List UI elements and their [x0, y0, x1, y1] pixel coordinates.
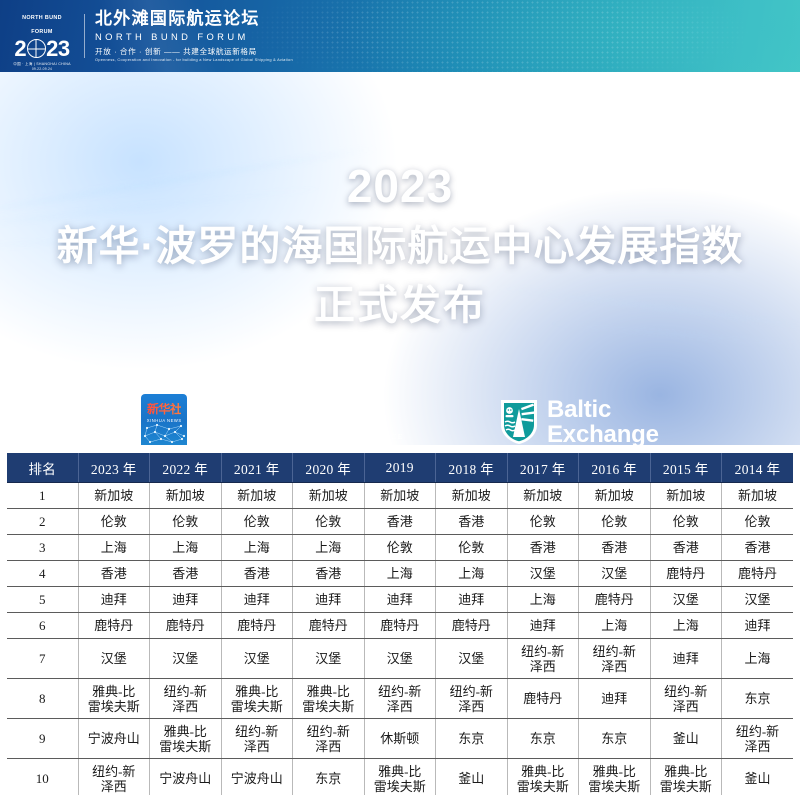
port-name: 上海: [509, 592, 578, 607]
column-header-year-2014: 2014 年: [722, 453, 794, 483]
port-cell: 汉堡: [722, 587, 794, 613]
port-cell: 伦敦: [436, 535, 508, 561]
north-bund-forum-logo-icon: NORTH BUND FORUM 2 23 中国 · 上海 | SHANGHAI…: [10, 7, 74, 65]
port-cell: 釜山: [436, 759, 508, 795]
rank-cell: 9: [7, 719, 78, 759]
port-name: 伦敦: [294, 514, 363, 529]
port-name: 上海: [223, 540, 292, 555]
port-name: 纽约-新 泽西: [437, 684, 506, 714]
port-name: 纽约-新 泽西: [294, 724, 363, 754]
port-cell: 雅典-比 雷埃夫斯: [650, 759, 722, 795]
port-cell: 纽约-新 泽西: [722, 719, 794, 759]
port-cell: 鹿特丹: [436, 613, 508, 639]
lockup-divider: [84, 14, 85, 58]
port-name: 香港: [723, 540, 792, 555]
port-cell: 纽约-新 泽西: [150, 679, 222, 719]
baltic-name-block: Baltic Exchange: [547, 397, 659, 445]
port-name: 纽约-新 泽西: [652, 684, 721, 714]
table-body: 1新加坡新加坡新加坡新加坡新加坡新加坡新加坡新加坡新加坡新加坡2伦敦伦敦伦敦伦敦…: [7, 483, 793, 795]
port-name: 东京: [509, 731, 578, 746]
port-name: 迪拜: [223, 592, 292, 607]
port-cell: 纽约-新 泽西: [579, 639, 651, 679]
north-bund-forum-lockup: NORTH BUND FORUM 2 23 中国 · 上海 | SHANGHAI…: [10, 6, 293, 66]
port-name: 新加坡: [294, 488, 363, 503]
port-name: 纽约-新 泽西: [723, 724, 792, 754]
port-cell: 东京: [579, 719, 651, 759]
port-name: 伦敦: [509, 514, 578, 529]
forum-slogan-cn: 开放 · 合作 · 创新 —— 共建全球航运新格局: [95, 46, 293, 57]
sponsor-logos: 新华社 XINHUA NEWS: [0, 394, 800, 445]
ranking-table-section: 排名2023 年2022 年2021 年2020 年20192018 年2017…: [0, 445, 800, 795]
port-name: 香港: [437, 514, 506, 529]
port-cell: 上海: [150, 535, 222, 561]
port-cell: 雅典-比 雷埃夫斯: [293, 679, 365, 719]
table-row: 5迪拜迪拜迪拜迪拜迪拜迪拜上海鹿特丹汉堡汉堡: [7, 587, 793, 613]
port-name: 雅典-比 雷埃夫斯: [151, 724, 220, 754]
forum-title-en: NORTH BUND FORUM: [95, 30, 293, 43]
column-header-year-2018: 2018 年: [436, 453, 508, 483]
nbf-logo-year: 2 23: [10, 38, 74, 60]
port-cell: 伦敦: [150, 509, 222, 535]
port-cell: 香港: [150, 561, 222, 587]
rank-cell: 2: [7, 509, 78, 535]
port-name: 新加坡: [652, 488, 721, 503]
port-name: 新加坡: [223, 488, 292, 503]
port-name: 汉堡: [509, 566, 578, 581]
port-cell: 汉堡: [436, 639, 508, 679]
port-cell: 迪拜: [293, 587, 365, 613]
port-name: 迪拜: [80, 592, 149, 607]
xinhua-name-en: CHINA ECONOMIC INFORMATION SERVICE: [196, 431, 404, 442]
port-name: 上海: [366, 566, 435, 581]
port-name: 香港: [151, 566, 220, 581]
port-name: 宁波舟山: [151, 771, 220, 786]
forum-title-cn: 北外滩国际航运论坛: [95, 9, 293, 29]
port-name: 新加坡: [723, 488, 792, 503]
port-cell: 伦敦: [364, 535, 436, 561]
port-cell: 新加坡: [436, 483, 508, 509]
port-cell: 休斯顿: [364, 719, 436, 759]
port-name: 香港: [366, 514, 435, 529]
port-cell: 汉堡: [293, 639, 365, 679]
port-name: 新加坡: [366, 488, 435, 503]
port-cell: 鹿特丹: [150, 613, 222, 639]
baltic-name-line2: Exchange: [547, 422, 659, 445]
port-cell: 雅典-比 雷埃夫斯: [507, 759, 579, 795]
rank-cell: 1: [7, 483, 78, 509]
port-name: 鹿特丹: [366, 618, 435, 633]
port-name: 汉堡: [437, 651, 506, 666]
port-cell: 上海: [221, 535, 293, 561]
port-cell: 新加坡: [150, 483, 222, 509]
column-header-year-2023: 2023 年: [78, 453, 150, 483]
poster-root: NORTH BUND FORUM 2 23 中国 · 上海 | SHANGHAI…: [0, 0, 800, 795]
port-cell: 香港: [579, 535, 651, 561]
port-cell: 纽约-新 泽西: [507, 639, 579, 679]
port-name: 鹿特丹: [151, 618, 220, 633]
port-name: 雅典-比 雷埃夫斯: [509, 764, 578, 794]
port-cell: 香港: [650, 535, 722, 561]
rank-cell: 7: [7, 639, 78, 679]
port-cell: 新加坡: [507, 483, 579, 509]
forum-title-block: 北外滩国际航运论坛 NORTH BUND FORUM 开放 · 合作 · 创新 …: [95, 9, 293, 63]
port-name: 汉堡: [652, 592, 721, 607]
port-name: 汉堡: [723, 592, 792, 607]
port-cell: 新加坡: [364, 483, 436, 509]
port-name: 雅典-比 雷埃夫斯: [366, 764, 435, 794]
port-name: 纽约-新 泽西: [580, 644, 649, 674]
port-cell: 迪拜: [722, 613, 794, 639]
port-name: 雅典-比 雷埃夫斯: [652, 764, 721, 794]
xinhua-name-block: 中国经济信息社 CHINA ECONOMIC INFORMATION SERVI…: [196, 402, 404, 442]
port-cell: 雅典-比 雷埃夫斯: [78, 679, 150, 719]
port-name: 新加坡: [80, 488, 149, 503]
port-cell: 伦敦: [722, 509, 794, 535]
table-row: 7汉堡汉堡汉堡汉堡汉堡汉堡纽约-新 泽西纽约-新 泽西迪拜上海: [7, 639, 793, 679]
port-cell: 汉堡: [78, 639, 150, 679]
port-cell: 纽约-新 泽西: [364, 679, 436, 719]
port-name: 东京: [437, 731, 506, 746]
port-name: 纽约-新 泽西: [509, 644, 578, 674]
port-cell: 鹿特丹: [293, 613, 365, 639]
nbf-logo-top-line2: FORUM: [10, 29, 74, 35]
port-cell: 鹿特丹: [650, 561, 722, 587]
port-name: 雅典-比 雷埃夫斯: [223, 684, 292, 714]
port-name: 新加坡: [437, 488, 506, 503]
port-name: 雅典-比 雷埃夫斯: [80, 684, 149, 714]
port-name: 上海: [723, 651, 792, 666]
nbf-logo-date-line: 09.22-09.24: [10, 67, 74, 72]
port-name: 釜山: [652, 731, 721, 746]
port-cell: 纽约-新 泽西: [221, 719, 293, 759]
port-cell: 东京: [722, 679, 794, 719]
xinhua-badge-cn: 新华社: [147, 403, 182, 416]
port-cell: 汉堡: [221, 639, 293, 679]
port-name: 纽约-新 泽西: [80, 764, 149, 794]
port-name: 鹿特丹: [223, 618, 292, 633]
port-cell: 新加坡: [579, 483, 651, 509]
port-cell: 汉堡: [507, 561, 579, 587]
port-cell: 上海: [78, 535, 150, 561]
port-cell: 釜山: [722, 759, 794, 795]
port-name: 伦敦: [580, 514, 649, 529]
nbf-year-right: 23: [46, 38, 69, 60]
port-name: 汉堡: [223, 651, 292, 666]
port-cell: 雅典-比 雷埃夫斯: [364, 759, 436, 795]
port-name: 伦敦: [151, 514, 220, 529]
port-name: 纽约-新 泽西: [366, 684, 435, 714]
table-row: 6鹿特丹鹿特丹鹿特丹鹿特丹鹿特丹鹿特丹迪拜上海上海迪拜: [7, 613, 793, 639]
port-name: 伦敦: [366, 540, 435, 555]
port-cell: 伦敦: [579, 509, 651, 535]
port-name: 香港: [80, 566, 149, 581]
network-graphic-icon: [141, 422, 187, 445]
port-name: 鹿特丹: [509, 691, 578, 706]
port-cell: 纽约-新 泽西: [436, 679, 508, 719]
port-name: 迪拜: [723, 618, 792, 633]
port-name: 香港: [652, 540, 721, 555]
port-cell: 东京: [293, 759, 365, 795]
hero-title-line1: 新华·波罗的海国际航运中心发展指数: [0, 216, 800, 276]
port-cell: 香港: [221, 561, 293, 587]
port-cell: 东京: [436, 719, 508, 759]
port-name: 休斯顿: [366, 731, 435, 746]
port-name: 香港: [509, 540, 578, 555]
port-cell: 伦敦: [507, 509, 579, 535]
port-cell: 新加坡: [293, 483, 365, 509]
port-name: 新加坡: [509, 488, 578, 503]
port-name: 新加坡: [151, 488, 220, 503]
table-row: 1新加坡新加坡新加坡新加坡新加坡新加坡新加坡新加坡新加坡新加坡: [7, 483, 793, 509]
hero-title-block: 2023 新华·波罗的海国际航运中心发展指数 正式发布: [0, 160, 800, 334]
port-name: 上海: [80, 540, 149, 555]
port-name: 上海: [437, 566, 506, 581]
port-cell: 上海: [436, 561, 508, 587]
port-cell: 汉堡: [579, 561, 651, 587]
port-cell: 鹿特丹: [78, 613, 150, 639]
port-cell: 鹿特丹: [722, 561, 794, 587]
port-name: 迪拜: [151, 592, 220, 607]
table-row: 9宁波舟山雅典-比 雷埃夫斯纽约-新 泽西纽约-新 泽西休斯顿东京东京东京釜山纽…: [7, 719, 793, 759]
port-name: 上海: [294, 540, 363, 555]
column-header-year-2021: 2021 年: [221, 453, 293, 483]
table-row: 2伦敦伦敦伦敦伦敦香港香港伦敦伦敦伦敦伦敦: [7, 509, 793, 535]
port-name: 上海: [652, 618, 721, 633]
port-name: 伦敦: [223, 514, 292, 529]
port-cell: 迪拜: [579, 679, 651, 719]
port-cell: 香港: [507, 535, 579, 561]
port-cell: 伦敦: [221, 509, 293, 535]
port-name: 雅典-比 雷埃夫斯: [294, 684, 363, 714]
table-row: 4香港香港香港香港上海上海汉堡汉堡鹿特丹鹿特丹: [7, 561, 793, 587]
rank-cell: 3: [7, 535, 78, 561]
port-name: 迪拜: [294, 592, 363, 607]
port-name: 鹿特丹: [80, 618, 149, 633]
port-cell: 雅典-比 雷埃夫斯: [579, 759, 651, 795]
port-cell: 伦敦: [78, 509, 150, 535]
port-cell: 宁波舟山: [150, 759, 222, 795]
port-name: 东京: [580, 731, 649, 746]
hero-banner: 2023 新华·波罗的海国际航运中心发展指数 正式发布 新华社 XINHUA N…: [0, 72, 800, 445]
column-header-year-2020: 2020 年: [293, 453, 365, 483]
port-cell: 迪拜: [364, 587, 436, 613]
port-cell: 伦敦: [293, 509, 365, 535]
port-name: 东京: [723, 691, 792, 706]
port-name: 汉堡: [151, 651, 220, 666]
port-name: 迪拜: [437, 592, 506, 607]
port-cell: 纽约-新 泽西: [78, 759, 150, 795]
port-name: 上海: [580, 618, 649, 633]
hero-title-line2: 正式发布: [0, 276, 800, 334]
port-cell: 迪拜: [78, 587, 150, 613]
port-name: 纽约-新 泽西: [151, 684, 220, 714]
port-name: 迪拜: [366, 592, 435, 607]
xinhua-badge-icon: 新华社 XINHUA NEWS: [141, 394, 187, 445]
ranking-table: 排名2023 年2022 年2021 年2020 年20192018 年2017…: [7, 453, 793, 795]
port-name: 香港: [580, 540, 649, 555]
port-cell: 新加坡: [78, 483, 150, 509]
forum-top-banner: NORTH BUND FORUM 2 23 中国 · 上海 | SHANGHAI…: [0, 0, 800, 72]
column-header-year-2019: 2019: [364, 453, 436, 483]
port-cell: 上海: [579, 613, 651, 639]
port-cell: 上海: [722, 639, 794, 679]
port-name: 釜山: [437, 771, 506, 786]
rank-cell: 10: [7, 759, 78, 795]
hero-year: 2023: [0, 160, 800, 212]
port-name: 纽约-新 泽西: [223, 724, 292, 754]
xinhua-logo: 新华社 XINHUA NEWS: [141, 394, 404, 445]
port-name: 雅典-比 雷埃夫斯: [580, 764, 649, 794]
port-name: 鹿特丹: [294, 618, 363, 633]
column-header-year-2022: 2022 年: [150, 453, 222, 483]
rank-cell: 4: [7, 561, 78, 587]
port-cell: 宁波舟山: [78, 719, 150, 759]
port-name: 新加坡: [580, 488, 649, 503]
port-cell: 迪拜: [650, 639, 722, 679]
column-header-rank: 排名: [7, 453, 78, 483]
port-cell: 鹿特丹: [579, 587, 651, 613]
port-name: 香港: [223, 566, 292, 581]
port-cell: 迪拜: [150, 587, 222, 613]
port-cell: 雅典-比 雷埃夫斯: [221, 679, 293, 719]
port-cell: 上海: [507, 587, 579, 613]
port-cell: 上海: [650, 613, 722, 639]
nbf-logo-top-line: NORTH BUND: [10, 15, 74, 21]
port-cell: 鹿特丹: [507, 679, 579, 719]
port-name: 宁波舟山: [80, 731, 149, 746]
port-name: 汉堡: [294, 651, 363, 666]
port-name: 伦敦: [80, 514, 149, 529]
port-cell: 伦敦: [650, 509, 722, 535]
table-header-row: 排名2023 年2022 年2021 年2020 年20192018 年2017…: [7, 453, 793, 483]
rank-cell: 8: [7, 679, 78, 719]
table-row: 3上海上海上海上海伦敦伦敦香港香港香港香港: [7, 535, 793, 561]
port-name: 东京: [294, 771, 363, 786]
port-cell: 宁波舟山: [221, 759, 293, 795]
port-cell: 新加坡: [221, 483, 293, 509]
port-cell: 迪拜: [436, 587, 508, 613]
column-header-year-2016: 2016 年: [579, 453, 651, 483]
port-cell: 迪拜: [221, 587, 293, 613]
port-name: 伦敦: [652, 514, 721, 529]
port-cell: 香港: [293, 561, 365, 587]
table-row: 8雅典-比 雷埃夫斯纽约-新 泽西雅典-比 雷埃夫斯雅典-比 雷埃夫斯纽约-新 …: [7, 679, 793, 719]
port-name: 鹿特丹: [437, 618, 506, 633]
port-name: 迪拜: [509, 618, 578, 633]
port-cell: 迪拜: [507, 613, 579, 639]
port-cell: 香港: [78, 561, 150, 587]
port-name: 鹿特丹: [652, 566, 721, 581]
port-name: 汉堡: [80, 651, 149, 666]
port-name: 迪拜: [580, 691, 649, 706]
port-cell: 汉堡: [650, 587, 722, 613]
port-name: 鹿特丹: [580, 592, 649, 607]
port-cell: 新加坡: [722, 483, 794, 509]
rank-cell: 6: [7, 613, 78, 639]
globe-icon: [27, 39, 46, 58]
port-name: 上海: [151, 540, 220, 555]
port-cell: 汉堡: [150, 639, 222, 679]
port-cell: 东京: [507, 719, 579, 759]
port-cell: 上海: [293, 535, 365, 561]
xinhua-name-cn: 中国经济信息社: [196, 402, 404, 429]
baltic-exchange-logo: Baltic Exchange: [500, 397, 659, 445]
forum-slogan-en: Openness, Cooperation and Innovation - f…: [95, 57, 293, 63]
baltic-name-line1: Baltic: [547, 397, 659, 422]
port-name: 汉堡: [366, 651, 435, 666]
column-header-year-2015: 2015 年: [650, 453, 722, 483]
port-cell: 香港: [436, 509, 508, 535]
table-row: 10纽约-新 泽西宁波舟山宁波舟山东京雅典-比 雷埃夫斯釜山雅典-比 雷埃夫斯雅…: [7, 759, 793, 795]
port-name: 鹿特丹: [723, 566, 792, 581]
port-cell: 上海: [364, 561, 436, 587]
port-cell: 纽约-新 泽西: [293, 719, 365, 759]
rank-cell: 5: [7, 587, 78, 613]
port-cell: 雅典-比 雷埃夫斯: [150, 719, 222, 759]
port-name: 釜山: [723, 771, 792, 786]
column-header-year-2017: 2017 年: [507, 453, 579, 483]
port-cell: 汉堡: [364, 639, 436, 679]
port-cell: 釜山: [650, 719, 722, 759]
port-cell: 鹿特丹: [221, 613, 293, 639]
port-name: 伦敦: [437, 540, 506, 555]
baltic-shield-icon: [500, 399, 538, 445]
nbf-year-left: 2: [14, 38, 26, 60]
port-name: 汉堡: [580, 566, 649, 581]
port-cell: 香港: [722, 535, 794, 561]
port-name: 迪拜: [652, 651, 721, 666]
port-cell: 新加坡: [650, 483, 722, 509]
port-name: 宁波舟山: [223, 771, 292, 786]
port-cell: 香港: [364, 509, 436, 535]
port-cell: 纽约-新 泽西: [650, 679, 722, 719]
port-name: 香港: [294, 566, 363, 581]
port-cell: 鹿特丹: [364, 613, 436, 639]
port-name: 伦敦: [723, 514, 792, 529]
